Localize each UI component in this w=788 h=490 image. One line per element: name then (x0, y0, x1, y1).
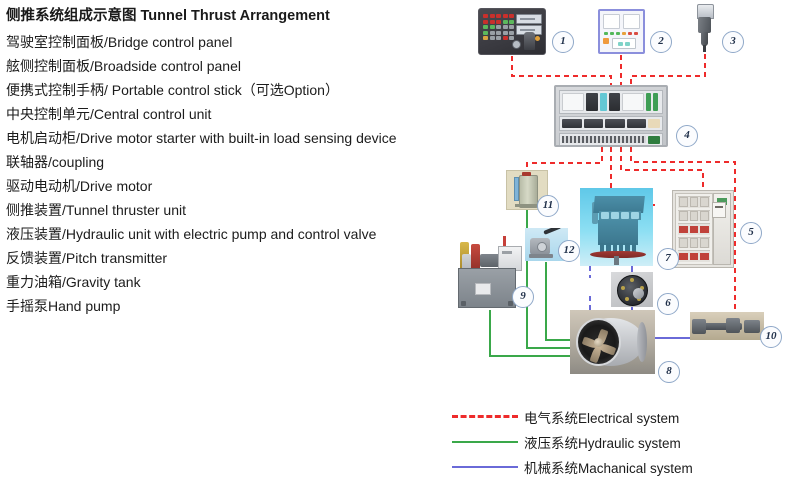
badge-1: 1 (552, 31, 574, 53)
legend-item-electrical: 电气系统Electrical system (452, 404, 788, 429)
indicator-lamp (535, 36, 540, 41)
oil-tank (458, 268, 516, 308)
badge-5: 5 (740, 222, 762, 244)
pump-lever[interactable] (543, 228, 561, 235)
list-item: 液压装置/Hydraulic unit with electric pump a… (6, 222, 456, 246)
legend-item-mechanical: 机械系统Machanical system (452, 454, 788, 479)
badge-11: 11 (537, 195, 559, 217)
motor-shaft (614, 256, 619, 265)
stick-cable (703, 45, 706, 52)
list-item: 电机启动柜/Drive motor starter with built-in … (6, 126, 456, 150)
hydraulic-line-swatch (452, 441, 518, 443)
coupling[interactable] (611, 272, 653, 307)
legend-label: 机械系统Machanical system (524, 457, 693, 477)
badge-9: 9 (512, 286, 534, 308)
badge-7: 7 (657, 248, 679, 270)
list-item: 联轴器/coupling (6, 150, 456, 174)
joystick[interactable] (524, 32, 535, 50)
rotary-knob[interactable] (512, 40, 521, 49)
page-title: 侧推系统组成示意图 Tunnel Thrust Arrangement (6, 6, 456, 26)
list-item: 驱动电动机/Drive motor (6, 174, 456, 198)
badge-2: 2 (650, 31, 672, 53)
badge-4: 4 (676, 125, 698, 147)
list-item: 中央控制单元/Central control unit (6, 102, 456, 126)
motor-vents (599, 211, 641, 220)
propeller-hub (594, 338, 603, 347)
list-item: 驾驶室控制面板/Bridge control panel (6, 30, 456, 54)
screens (603, 14, 640, 29)
transmitter-block-right (744, 320, 760, 333)
list-item: 重力油箱/Gravity tank (6, 270, 456, 294)
transmitter-block-mid (726, 318, 740, 333)
broadside-control-panel[interactable] (598, 9, 645, 54)
cabinet-door[interactable] (713, 193, 731, 265)
badge-12: 12 (558, 240, 580, 262)
pump-base (529, 254, 553, 258)
mechanical-line-swatch (452, 466, 518, 468)
motor-body (598, 220, 638, 245)
coupling-flange (617, 275, 648, 306)
list-item: 手摇泵Hand pump (6, 294, 456, 318)
legend-label: 液压系统Hydraulic system (524, 432, 681, 452)
transmitter-block-left (692, 319, 706, 334)
legend-item-hydraulic: 液压系统Hydraulic system (452, 429, 788, 454)
stick-body (698, 17, 711, 33)
led-strip (603, 32, 640, 35)
thruster-mouth (576, 318, 621, 366)
nameplate (475, 283, 491, 295)
screen-right (623, 14, 640, 29)
cabinet-shelf-top (559, 90, 663, 114)
circuit-breaker[interactable] (712, 202, 726, 218)
keypad (483, 14, 517, 42)
system-diagram: 1 2 3 (450, 0, 788, 400)
drive-motor-starter-cabinet[interactable] (672, 190, 734, 268)
list-item: 反馈装置/Pitch transmitter (6, 246, 456, 270)
coupling-hub (633, 288, 644, 299)
bridge-control-panel[interactable] (478, 8, 546, 55)
cabinet-shelf-middle (559, 116, 663, 131)
system-type-legend: 电气系统Electrical system 液压系统Hydraulic syst… (452, 404, 788, 479)
screen-left (603, 14, 620, 29)
pump-hub (537, 242, 547, 252)
list-item: 便携式控制手柄/ Portable control stick（可选Option… (6, 78, 456, 102)
component-legend-text-panel: 侧推系统组成示意图 Tunnel Thrust Arrangement 驾驶室控… (6, 6, 456, 318)
control-row (603, 38, 640, 49)
badge-6: 6 (657, 293, 679, 315)
display-upper (516, 14, 542, 24)
pitch-transmitter[interactable] (690, 312, 764, 340)
list-item: 舷侧控制面板/Broadside control panel (6, 54, 456, 78)
badge-10: 10 (760, 326, 782, 348)
legend-label: 电气系统Electrical system (524, 407, 679, 427)
portable-control-stick[interactable] (693, 4, 717, 54)
drive-motor[interactable] (580, 188, 653, 266)
central-control-unit[interactable] (554, 85, 668, 147)
power-button[interactable] (603, 38, 609, 44)
electrical-line-swatch (452, 415, 518, 418)
stick-grip (701, 32, 708, 46)
thruster-ring (637, 322, 647, 362)
tunnel-thruster-unit[interactable] (570, 310, 655, 374)
cabinet-shelf-bottom (559, 133, 663, 146)
button-pad[interactable] (612, 38, 636, 49)
badge-3: 3 (722, 31, 744, 53)
cabinet-interior (675, 193, 713, 265)
filler-cap (522, 172, 531, 176)
badge-8: 8 (658, 361, 680, 383)
list-item: 侧推装置/Tunnel thruster unit (6, 198, 456, 222)
